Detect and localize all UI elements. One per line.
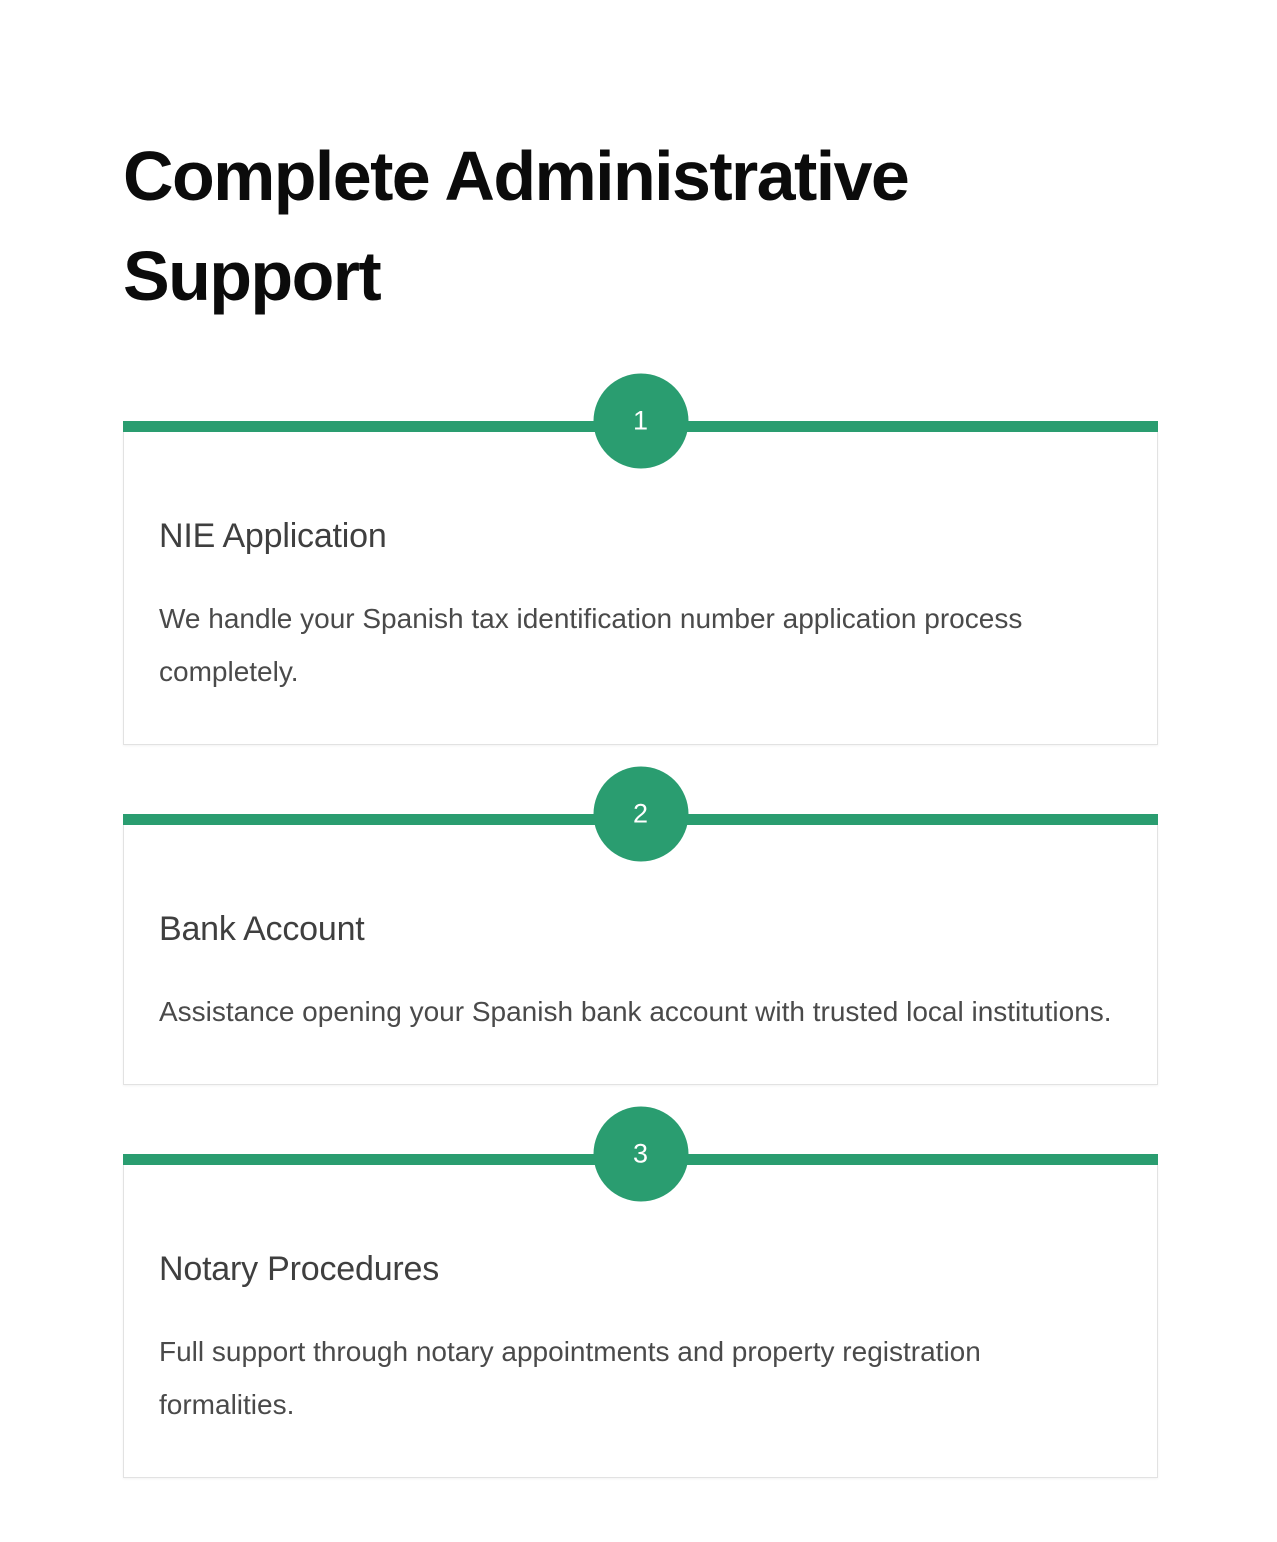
step-body: NIE Application We handle your Spanish t… bbox=[124, 432, 1157, 744]
step-card: 2 Bank Account Assistance opening your S… bbox=[123, 825, 1158, 1085]
step-number-badge: 2 bbox=[593, 767, 688, 862]
step-number-badge: 3 bbox=[593, 1107, 688, 1202]
step-title: Notary Procedures bbox=[159, 1249, 1122, 1289]
step-body: Notary Procedures Full support through n… bbox=[124, 1165, 1157, 1477]
step-title: NIE Application bbox=[159, 516, 1122, 556]
step-description: We handle your Spanish tax identificatio… bbox=[159, 592, 1119, 698]
step-title: Bank Account bbox=[159, 909, 1122, 949]
step-number-badge: 1 bbox=[593, 374, 688, 469]
page-root: Complete Administrative Support 1 NIE Ap… bbox=[0, 0, 1277, 1542]
page-title: Complete Administrative Support bbox=[123, 126, 1133, 326]
step-description: Full support through notary appointments… bbox=[159, 1325, 1119, 1431]
step-body: Bank Account Assistance opening your Spa… bbox=[124, 825, 1157, 1084]
step-description: Assistance opening your Spanish bank acc… bbox=[159, 985, 1119, 1038]
step-card: 3 Notary Procedures Full support through… bbox=[123, 1165, 1158, 1478]
steps-list: 1 NIE Application We handle your Spanish… bbox=[123, 432, 1158, 1478]
step-card: 1 NIE Application We handle your Spanish… bbox=[123, 432, 1158, 745]
